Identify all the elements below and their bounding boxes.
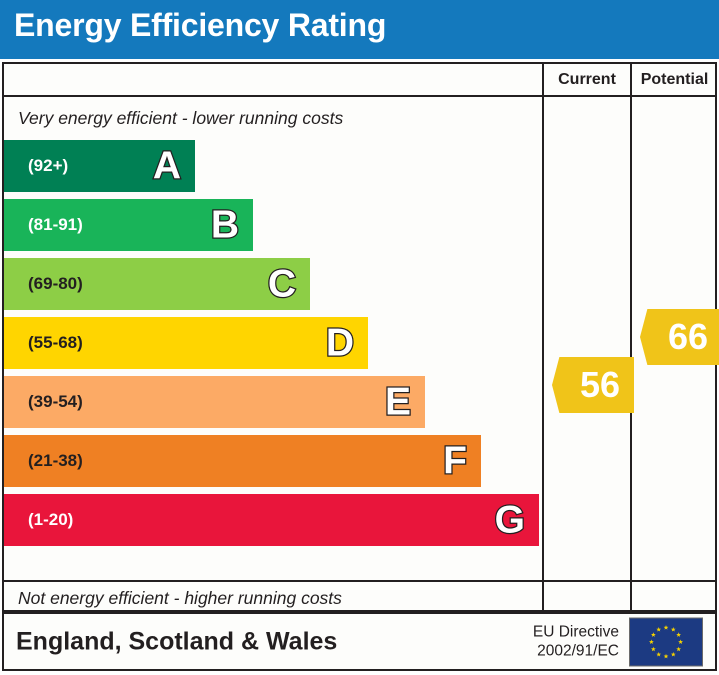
directive-line-1: EU Directive (533, 622, 619, 641)
current-column-divider (542, 64, 544, 610)
band-row-c: (69-80)C (4, 258, 310, 310)
bottom-caption-separator (4, 580, 715, 582)
band-letter-e: E (385, 383, 411, 422)
band-list: (92+)A(81-91)B(69-80)C(55-68)D(39-54)E(2… (4, 64, 542, 610)
column-header-potential: Potential (632, 64, 717, 95)
footer-bar: England, Scotland & Wales EU Directive 2… (2, 612, 717, 671)
potential-rating-value: 66 (668, 319, 708, 355)
band-range-f: (21-38) (28, 451, 83, 471)
column-header-current: Current (544, 64, 630, 95)
footer-region-label: England, Scotland & Wales (16, 627, 337, 656)
band-row-e: (39-54)E (4, 376, 425, 428)
band-range-a: (92+) (28, 156, 68, 176)
band-range-c: (69-80) (28, 274, 83, 294)
band-row-g: (1-20)G (4, 494, 539, 546)
band-range-g: (1-20) (28, 510, 73, 530)
band-range-e: (39-54) (28, 392, 83, 412)
footer-directive: EU Directive 2002/91/EC (533, 622, 619, 661)
title-bar: Energy Efficiency Rating (0, 0, 719, 59)
band-row-a: (92+)A (4, 140, 195, 192)
band-letter-b: B (211, 206, 239, 245)
potential-column-divider (630, 64, 632, 610)
band-row-f: (21-38)F (4, 435, 481, 487)
current-rating-arrow: 56 (552, 357, 634, 413)
caption-not-efficient: Not energy efficient - higher running co… (18, 588, 342, 609)
band-letter-c: C (268, 265, 296, 304)
directive-line-2: 2002/91/EC (533, 642, 619, 661)
band-range-d: (55-68) (28, 333, 83, 353)
current-rating-value: 56 (580, 367, 620, 403)
band-letter-f: F (443, 442, 467, 481)
rating-table: Current Potential Very energy efficient … (2, 62, 717, 612)
energy-efficiency-rating-chart: Energy Efficiency Rating Current Potenti… (0, 0, 719, 675)
eu-flag-icon (629, 617, 703, 666)
page-title: Energy Efficiency Rating (14, 7, 386, 44)
band-letter-d: D (326, 324, 354, 363)
band-letter-a: A (153, 147, 181, 186)
band-row-d: (55-68)D (4, 317, 368, 369)
band-range-b: (81-91) (28, 215, 83, 235)
band-row-b: (81-91)B (4, 199, 253, 251)
band-letter-g: G (495, 501, 525, 540)
potential-rating-arrow: 66 (640, 309, 719, 365)
